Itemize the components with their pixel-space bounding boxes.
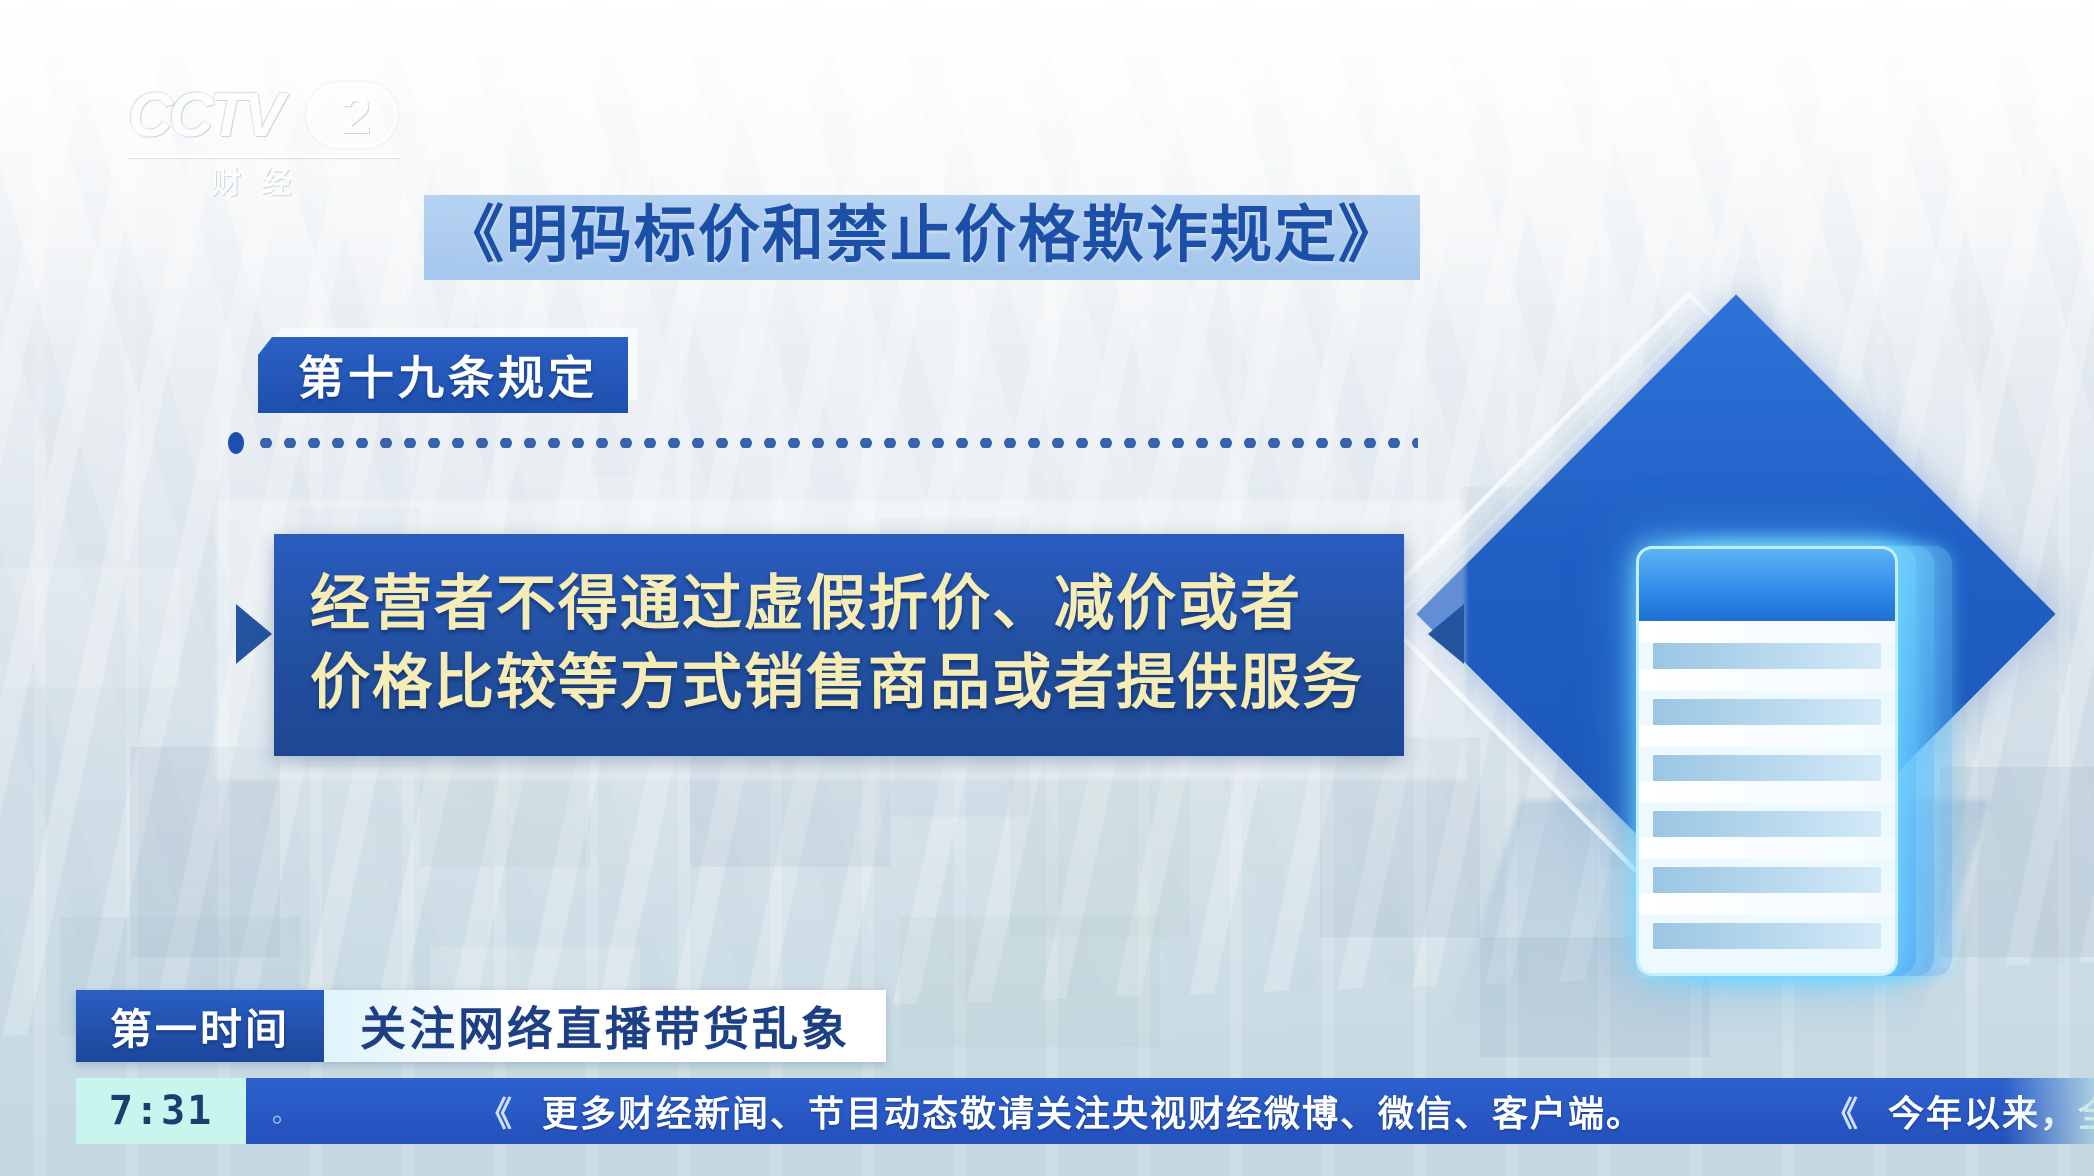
document-text-line-4 xyxy=(1653,811,1881,837)
dotted-divider-lead-dot xyxy=(228,432,244,454)
ticker-crawl: 。 《 更多财经新闻、节目动态敬请关注央视财经微博、微信、客户端。 《 今年以来… xyxy=(246,1078,2094,1144)
document-gap-6 xyxy=(1639,893,1895,915)
ticker-bullet-icon-1: 《 xyxy=(478,1087,512,1136)
document-diamond-graphic xyxy=(1440,370,2094,1090)
channel-name-label: 财经 xyxy=(186,158,336,202)
cctv-wordmark: CCTV xyxy=(128,80,281,151)
topic-headline: 关注网络直播带货乱象 xyxy=(324,990,886,1062)
document-gap-2 xyxy=(1639,669,1895,691)
broadcast-screen: CCTV 2 财经 《明码标价和禁止价格欺诈规定》 第十九条规定 经营者不得通过… xyxy=(0,0,2094,1176)
cctv-channel-logo: CCTV 2 财经 xyxy=(128,82,428,192)
document-text-line-1 xyxy=(1653,643,1881,669)
program-name: 第一时间 xyxy=(76,990,324,1062)
document-gap-5 xyxy=(1639,837,1895,859)
channel-number: 2 xyxy=(328,84,384,146)
document-text-line-5 xyxy=(1653,867,1881,893)
ticker-message-1: 更多财经新闻、节目动态敬请关注央视财经微博、微信、客户端。 xyxy=(542,1085,1644,1137)
dotted-divider xyxy=(228,436,1418,450)
dotted-divider-dots xyxy=(254,438,1418,448)
document-text-line-3 xyxy=(1653,755,1881,781)
document-gap-3 xyxy=(1639,725,1895,747)
document-gap-4 xyxy=(1639,781,1895,803)
document-gap-1 xyxy=(1639,621,1895,643)
article-badge: 第十九条规定 xyxy=(258,337,628,413)
lower-third-strap: 第一时间 关注网络直播带货乱象 xyxy=(76,990,886,1062)
arrow-left-triangle-icon xyxy=(1428,604,1464,664)
ticker-tail-punctuation: 。 xyxy=(272,1093,298,1130)
document-sheet-front xyxy=(1636,546,1898,976)
ticker-bullet-icon-2: 《 xyxy=(1824,1087,1858,1136)
statement-panel: 经营者不得通过虚假折价、减价或者 价格比较等方式销售商品或者提供服务 xyxy=(274,534,1404,756)
document-text-line-2 xyxy=(1653,699,1881,725)
arrow-right-triangle-icon xyxy=(236,604,272,664)
clock-display: 7:31 xyxy=(76,1078,246,1144)
document-stack-icon xyxy=(1636,546,1966,976)
news-ticker: 7:31 。 《 更多财经新闻、节目动态敬请关注央视财经微博、微信、客户端。 《… xyxy=(76,1078,2094,1144)
ticker-message-2: 今年以来，全国i xyxy=(1888,1085,2094,1137)
statement-line-1: 经营者不得通过虚假折价、减价或者 xyxy=(310,564,1368,643)
statement-line-2: 价格比较等方式销售商品或者提供服务 xyxy=(310,643,1368,722)
document-text-line-6 xyxy=(1653,923,1881,949)
document-header-band xyxy=(1639,549,1895,621)
law-title: 《明码标价和禁止价格欺诈规定》 xyxy=(424,195,1420,280)
